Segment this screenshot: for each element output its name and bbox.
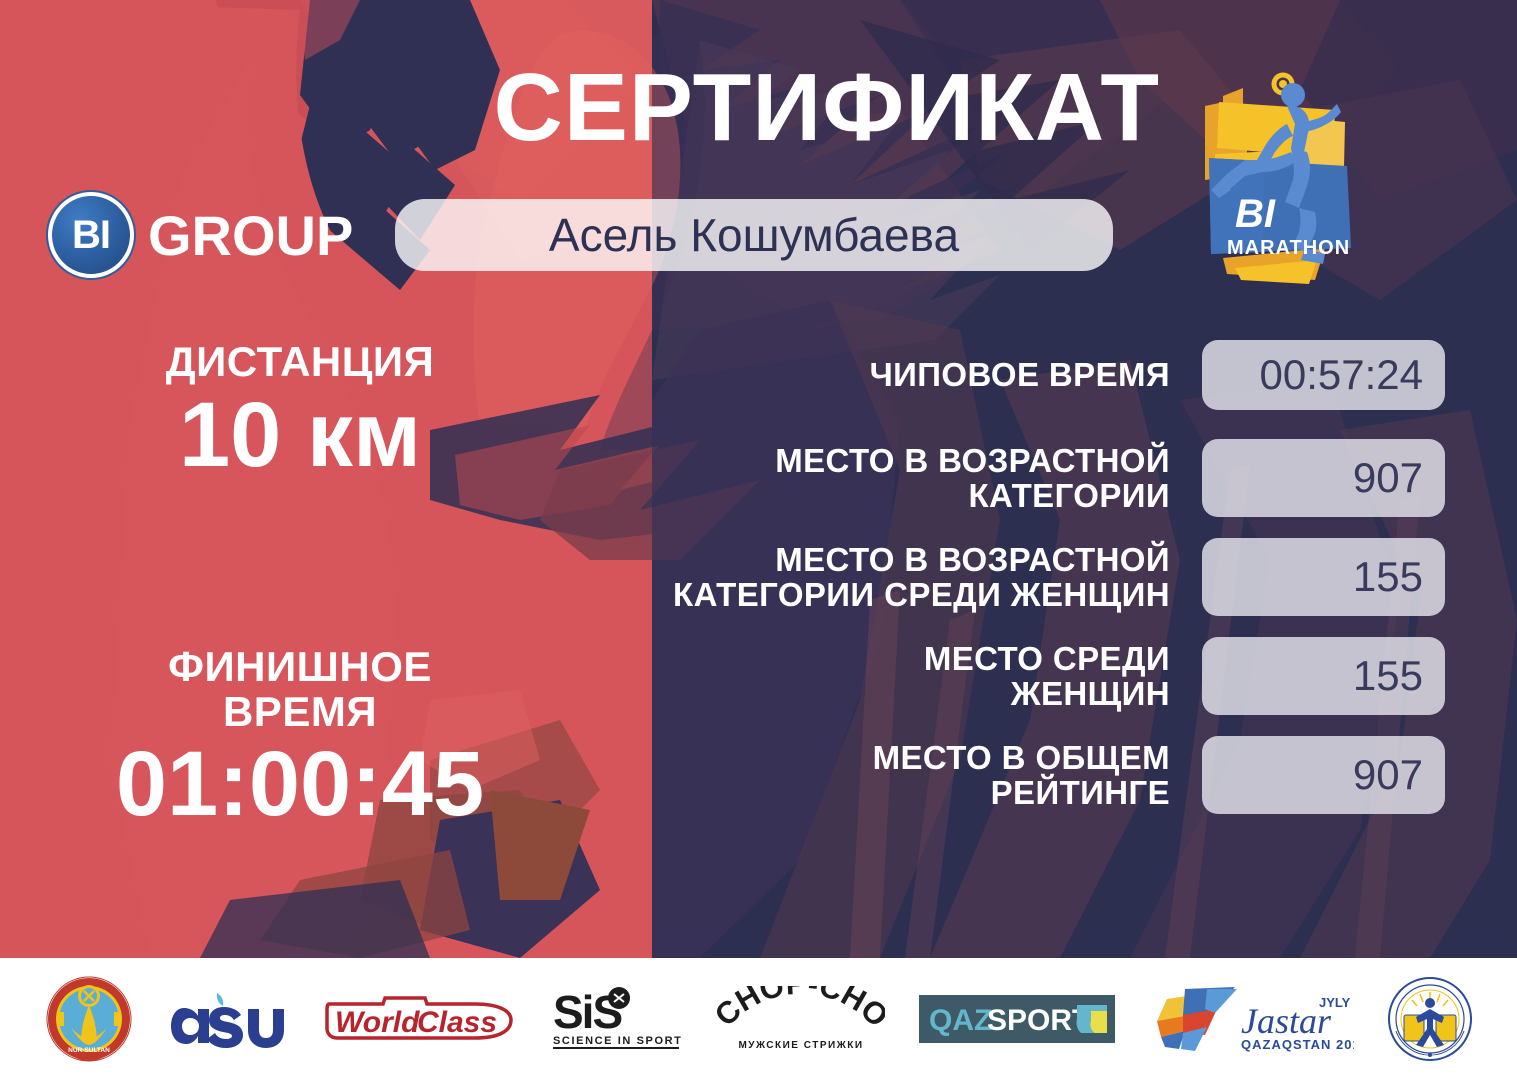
finish-time-label: ФИНИШНОЕ ВРЕМЯ xyxy=(30,645,570,734)
stat-label: МЕСТО В ОБЩЕМ РЕЙТИНГЕ xyxy=(500,740,1202,811)
stat-value: 155 xyxy=(1353,652,1423,700)
participant-name-badge: Асель Кошумбаева xyxy=(395,199,1113,271)
stat-value: 907 xyxy=(1353,454,1423,502)
sponsor-world-class: World Class xyxy=(325,973,517,1065)
chop-chop-logo-icon: CHOP-CHOP МУЖСКИЕ СТРИЖКИ xyxy=(717,986,885,1052)
stat-row-age-category-place: МЕСТО В ВОЗРАСТНОЙ КАТЕГОРИИ 907 xyxy=(500,439,1445,517)
bi-group-wordmark: GROUP xyxy=(148,203,353,268)
stat-value-box: 907 xyxy=(1202,439,1445,517)
qazaqstan-2019-text: QAZAQSTAN 2019 xyxy=(1241,1037,1354,1052)
stat-value: 00:57:24 xyxy=(1260,351,1424,399)
sponsor-asu xyxy=(166,973,291,1065)
stat-row-age-category-women-place: МЕСТО В ВОЗРАСТНОЙ КАТЕГОРИИ СРЕДИ ЖЕНЩИ… xyxy=(500,538,1445,616)
stat-label: ЧИПОВОЕ ВРЕМЯ xyxy=(500,357,1202,392)
bi-marathon-logo-icon: BI MARATHON xyxy=(1175,62,1390,297)
stat-row-chip-time: ЧИПОВОЕ ВРЕМЯ 00:57:24 xyxy=(500,340,1445,410)
jastar-jyly-logo-icon: Jastar JYLY QAZAQSTAN 2019 xyxy=(1149,983,1354,1055)
sponsor-ministry xyxy=(1388,973,1472,1065)
bi-mark-icon: BI xyxy=(48,192,134,278)
stat-label: МЕСТО В ВОЗРАСТНОЙ КАТЕГОРИИ СРЕДИ ЖЕНЩИ… xyxy=(500,542,1202,613)
sis-tagline: SCIENCE IN SPORT xyxy=(553,1035,683,1047)
marathon-logo-word-text: MARATHON xyxy=(1227,237,1350,259)
distance-label: ДИСТАНЦИЯ xyxy=(30,340,570,385)
stat-value-box: 155 xyxy=(1202,637,1445,715)
qaz-text: QAZ xyxy=(929,1004,992,1037)
stats-list: ЧИПОВОЕ ВРЕМЯ 00:57:24 МЕСТО В ВОЗРАСТНО… xyxy=(500,340,1445,835)
sis-logo-icon: SiS SCIENCE IN SPORT xyxy=(551,986,683,1052)
stat-value: 155 xyxy=(1353,553,1423,601)
nur-sultan-text: NUR-SULTAN xyxy=(68,1047,110,1054)
bi-group-logo: BI GROUP xyxy=(48,192,353,278)
world-text: World xyxy=(335,1006,420,1039)
page-title: СЕРТИФИКАТ xyxy=(0,60,1160,156)
distance-block: ДИСТАНЦИЯ 10 км xyxy=(30,340,570,483)
stat-label: МЕСТО В ВОЗРАСТНОЙ КАТЕГОРИИ xyxy=(500,443,1202,514)
qazsport-logo-icon: QAZ SPORT xyxy=(919,995,1115,1043)
stat-row-women-place: МЕСТО СРЕДИ ЖЕНЩИН 155 xyxy=(500,637,1445,715)
stat-row-overall-place: МЕСТО В ОБЩЕМ РЕЙТИНГЕ 907 xyxy=(500,736,1445,814)
sponsor-nur-sultan: NUR-SULTAN xyxy=(46,973,132,1065)
stat-value-box: 155 xyxy=(1202,538,1445,616)
asu-logo-icon xyxy=(166,988,291,1050)
sport-text: SPORT xyxy=(987,1004,1090,1037)
stat-value: 907 xyxy=(1353,751,1423,799)
sponsor-jastar-jyly: Jastar JYLY QAZAQSTAN 2019 xyxy=(1149,973,1354,1065)
participant-name: Асель Кошумбаева xyxy=(549,208,959,262)
stat-label: МЕСТО СРЕДИ ЖЕНЩИН xyxy=(500,641,1202,712)
sponsor-chop-chop: CHOP-CHOP МУЖСКИЕ СТРИЖКИ xyxy=(717,973,885,1065)
marathon-logo-bi-text: BI xyxy=(1235,192,1276,236)
finish-time-value: 01:00:45 xyxy=(30,736,570,833)
jyly-text: JYLY xyxy=(1319,995,1351,1010)
nur-sultan-emblem-icon: NUR-SULTAN xyxy=(46,976,132,1062)
distance-value: 10 км xyxy=(30,387,570,484)
stat-value-box: 00:57:24 xyxy=(1202,340,1445,410)
sponsor-sis: SiS SCIENCE IN SPORT xyxy=(551,973,683,1065)
certificate: СЕРТИФИКАТ BI GROUP Асель Кошумбаева xyxy=(0,0,1517,1080)
chop-chop-tagline: МУЖСКИЕ СТРИЖКИ xyxy=(738,1040,863,1051)
bi-marathon-logo: BI MARATHON xyxy=(1175,62,1390,297)
sponsor-qazsport: QAZ SPORT xyxy=(919,973,1115,1065)
left-summary-column: ДИСТАНЦИЯ 10 км ФИНИШНОЕ ВРЕМЯ 01:00:45 xyxy=(30,340,570,483)
sponsor-bar: NUR-SULTAN World Class SiS xyxy=(0,958,1517,1080)
ministry-emblem-icon xyxy=(1388,977,1472,1061)
world-class-logo-icon: World Class xyxy=(325,990,517,1048)
stat-value-box: 907 xyxy=(1202,736,1445,814)
finish-time-block: ФИНИШНОЕ ВРЕМЯ 01:00:45 xyxy=(30,645,570,833)
class-text: Class xyxy=(417,1006,497,1039)
chop-chop-text: CHOP-CHOP xyxy=(717,986,885,1034)
